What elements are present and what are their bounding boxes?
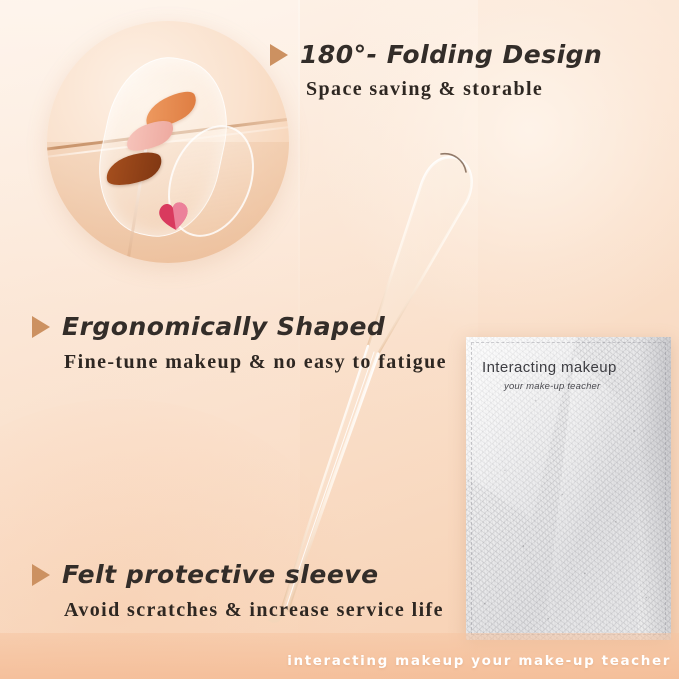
pouch-brand-text: Interacting makeup bbox=[482, 359, 642, 376]
feature-subtitle: Fine-tune makeup & no easy to fatigue bbox=[64, 351, 447, 374]
pouch-label: Interacting makeup your make-up teacher bbox=[482, 359, 642, 392]
feature-felt-protective-sleeve: Felt protective sleeve Avoid scratches &… bbox=[32, 560, 444, 622]
feature-title: 180°- Folding Design bbox=[300, 40, 602, 69]
triangle-right-icon bbox=[32, 564, 50, 586]
felt-storage-pouch: Interacting makeup your make-up teacher bbox=[466, 337, 671, 640]
feature-folding-design: 180°- Folding Design Space saving & stor… bbox=[270, 40, 602, 101]
feature-subtitle: Avoid scratches & increase service life bbox=[64, 599, 444, 622]
triangle-right-icon bbox=[270, 44, 288, 66]
feature-title: Ergonomically Shaped bbox=[62, 312, 385, 341]
pouch-tagline-text: your make-up teacher bbox=[504, 381, 642, 392]
feature-title: Felt protective sleeve bbox=[62, 560, 379, 589]
footer-brand-text: interacting makeup your make-up teacher bbox=[287, 653, 671, 669]
feature-subtitle: Space saving & storable bbox=[306, 78, 602, 101]
feature-ergonomically-shaped: Ergonomically Shaped Fine-tune makeup & … bbox=[32, 312, 447, 374]
product-feature-image: 180°- Folding Design Space saving & stor… bbox=[0, 0, 679, 679]
circle-product-closeup bbox=[47, 21, 289, 263]
triangle-right-icon bbox=[32, 316, 50, 338]
pink-heart-swatch bbox=[155, 199, 193, 233]
